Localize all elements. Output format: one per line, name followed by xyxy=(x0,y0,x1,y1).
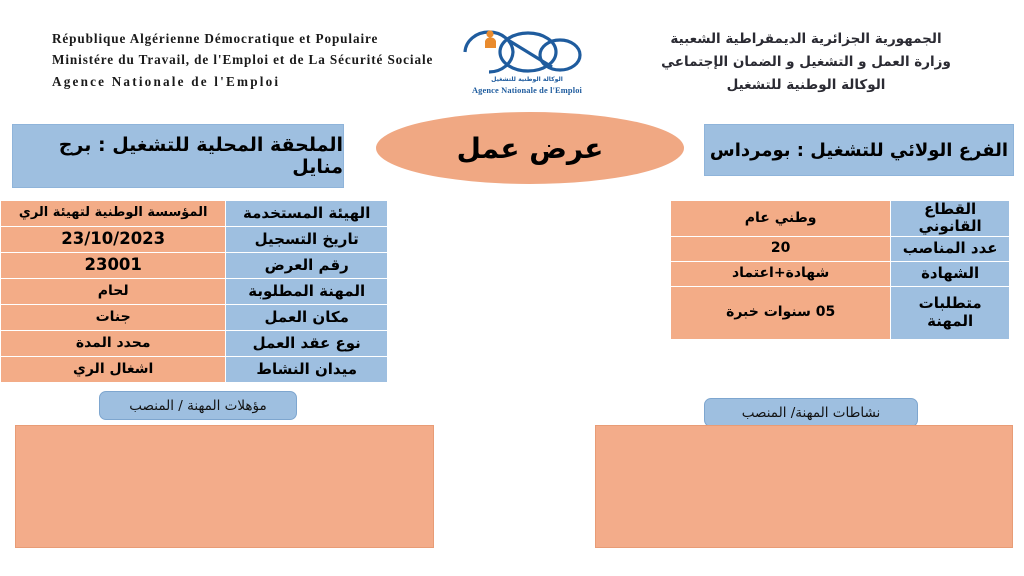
qualifications-content-box[interactable] xyxy=(15,425,434,548)
row-label: الهيئة المستخدمة xyxy=(226,201,388,227)
row-value: 05 سنوات خبرة xyxy=(671,286,891,339)
row-value: لحام xyxy=(1,279,226,305)
header-arabic-line-2: وزارة العمل و التشغيل و الضمان الإجتماعي xyxy=(596,51,1016,74)
wilaya-office-banner: الفرع الولائي للتشغيل : بومرداس xyxy=(704,124,1014,176)
document-title-ellipse: عرض عمل xyxy=(376,112,684,184)
table-row: الهيئة المستخدمة المؤسسة الوطنية لتهيئة … xyxy=(1,201,388,227)
activities-content-box[interactable] xyxy=(595,425,1013,548)
table-row: ميدان النشاط اشغال الري xyxy=(1,357,388,383)
row-label: مكان العمل xyxy=(226,305,388,331)
table-row: نوع عقد العمل محدد المدة xyxy=(1,331,388,357)
table-row: متطلبات المهنة 05 سنوات خبرة xyxy=(671,286,1010,339)
row-value: المؤسسة الوطنية لتهيئة الري xyxy=(1,201,226,227)
header-french-line-3: Agence Nationale de l'Emploi xyxy=(52,71,452,92)
job-details-table-right: الهيئة المستخدمة المؤسسة الوطنية لتهيئة … xyxy=(0,200,388,383)
row-value: جنات xyxy=(1,305,226,331)
row-label: المهنة المطلوبة xyxy=(226,279,388,305)
activities-section-label: نشاطات المهنة/ المنصب xyxy=(704,398,918,427)
row-value: 23001 xyxy=(1,253,226,279)
logo-arabic-caption: الوكالة الوطنية للتشغيل xyxy=(452,76,602,83)
row-label: عدد المناصب xyxy=(891,236,1010,261)
logo-figure-icon xyxy=(485,37,496,48)
qualifications-section-label: مؤهلات المهنة / المنصب xyxy=(99,391,297,420)
row-label: نوع عقد العمل xyxy=(226,331,388,357)
table-row: القطاع القانوني وطني عام xyxy=(671,201,1010,237)
row-label: الشهادة xyxy=(891,261,1010,286)
table-row: المهنة المطلوبة لحام xyxy=(1,279,388,305)
header-french-block: République Algérienne Démocratique et Po… xyxy=(52,28,452,92)
header-french-line-2: Ministére du Travail, de l'Emploi et de … xyxy=(52,49,452,70)
row-value: 20 xyxy=(671,236,891,261)
row-label: تاريخ التسجيل xyxy=(226,227,388,253)
row-value: شهادة+اعتماد xyxy=(671,261,891,286)
row-value: اشغال الري xyxy=(1,357,226,383)
local-office-banner: الملحقة المحلية للتشغيل : برج منايل xyxy=(12,124,344,188)
table-row: مكان العمل جنات xyxy=(1,305,388,331)
job-details-table-left: القطاع القانوني وطني عام عدد المناصب 20 … xyxy=(670,200,1010,340)
header-arabic-line-1: الجمهورية الجزائرية الديمقراطية الشعبية xyxy=(596,28,1016,51)
logo-french-caption: Agence Nationale de l'Emploi xyxy=(452,86,602,95)
row-value: 23/10/2023 xyxy=(1,227,226,253)
row-label: متطلبات المهنة xyxy=(891,286,1010,339)
row-value: وطني عام xyxy=(671,201,891,237)
table-row: الشهادة شهادة+اعتماد xyxy=(671,261,1010,286)
header-french-line-1: République Algérienne Démocratique et Po… xyxy=(52,28,452,49)
row-label: رقم العرض xyxy=(226,253,388,279)
table-row: تاريخ التسجيل 23/10/2023 xyxy=(1,227,388,253)
row-label: ميدان النشاط xyxy=(226,357,388,383)
row-label: القطاع القانوني xyxy=(891,201,1010,237)
job-offer-document: République Algérienne Démocratique et Po… xyxy=(0,0,1024,576)
table-row: عدد المناصب 20 xyxy=(671,236,1010,261)
anem-logo-icon xyxy=(452,24,602,80)
table-row: رقم العرض 23001 xyxy=(1,253,388,279)
row-value: محدد المدة xyxy=(1,331,226,357)
anem-logo: الوكالة الوطنية للتشغيل Agence Nationale… xyxy=(452,24,602,104)
header-arabic-block: الجمهورية الجزائرية الديمقراطية الشعبية … xyxy=(596,28,1016,98)
logo-dot-icon xyxy=(486,30,493,37)
header-arabic-line-3: الوكالة الوطنية للتشغيل xyxy=(596,74,1016,97)
